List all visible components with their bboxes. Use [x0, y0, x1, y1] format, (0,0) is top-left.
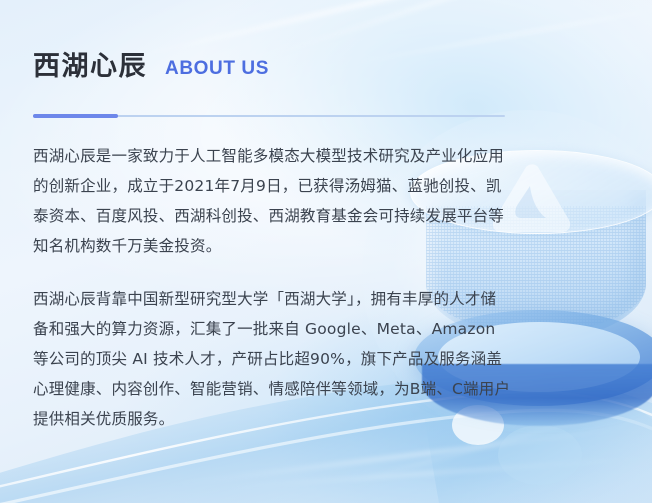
about-paragraph-1: 西湖心辰是一家致力于人工智能多模态大模型技术研究及产业化应用的创新企业，成立于2… — [33, 141, 511, 261]
about-us-page: 西湖心辰 ABOUT US 西湖心辰是一家致力于人工智能多模态大模型技术研究及产… — [0, 0, 652, 503]
section-divider — [33, 114, 505, 118]
brand-name-cn: 西湖心辰 — [33, 53, 147, 80]
page-title-about-us: ABOUT US — [165, 59, 269, 80]
about-paragraph-2: 西湖心辰背靠中国新型研究型大学「西湖大学」，拥有丰厚的人才储备和强大的算力资源，… — [33, 284, 511, 434]
divider-accent-segment — [33, 114, 118, 118]
about-body-copy: 西湖心辰是一家致力于人工智能多模态大模型技术研究及产业化应用的创新企业，成立于2… — [33, 141, 511, 434]
page-heading: 西湖心辰 ABOUT US — [33, 53, 269, 80]
content-container: 西湖心辰 ABOUT US 西湖心辰是一家致力于人工智能多模态大模型技术研究及产… — [0, 0, 652, 503]
